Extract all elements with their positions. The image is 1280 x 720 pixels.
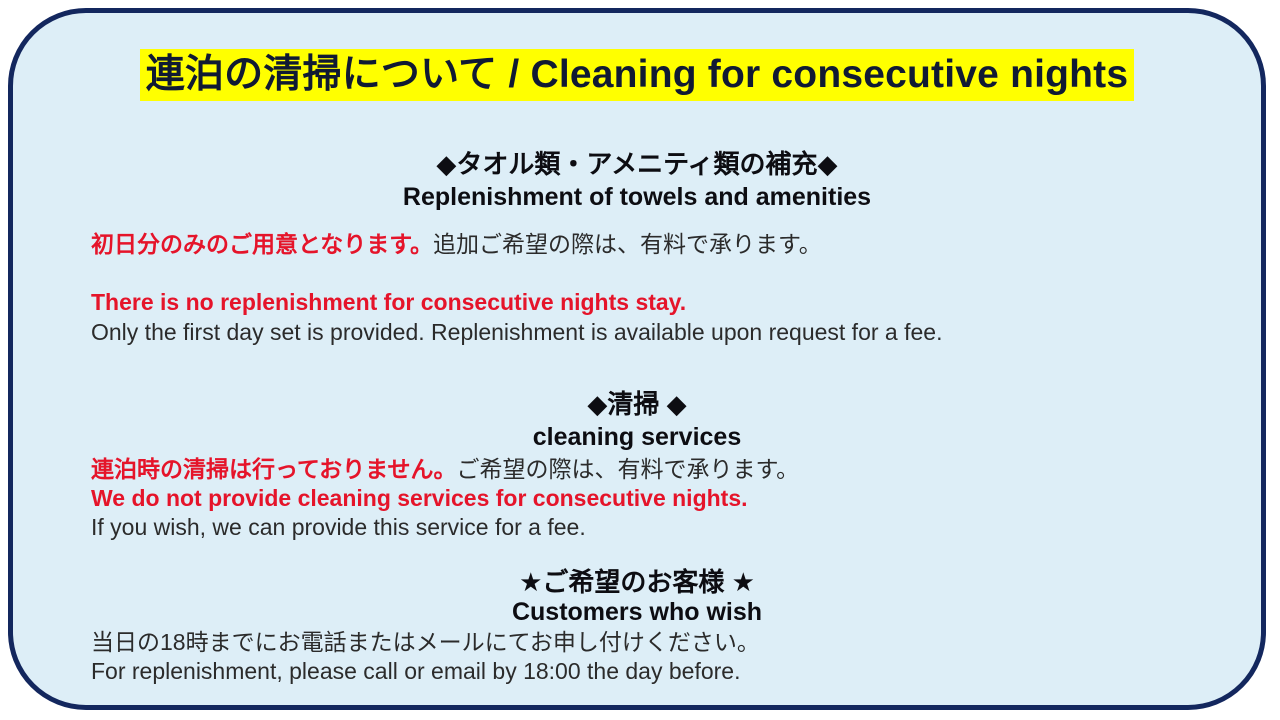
section-3-heading-jp: ★ご希望のお客様 ★	[13, 567, 1261, 597]
section-3-line-1: 当日の18時までにお電話またはメールにてお申し付けください。	[91, 627, 760, 657]
section-1-line-1-red: 初日分のみのご用意となります。	[91, 231, 433, 257]
section-1-line-1: 初日分のみのご用意となります。追加ご希望の際は、有料で承ります。	[91, 229, 822, 259]
section-2-line-2: We do not provide cleaning services for …	[91, 483, 748, 513]
section-2-heading-jp: ◆清掃 ◆	[13, 389, 1261, 419]
section-2-line-1-red: 連泊時の清掃は行っておりません。	[91, 456, 456, 482]
section-2-line-1-black: ご希望の際は、有料で承ります。	[456, 456, 799, 482]
page-title-highlighted-text: 連泊の清掃について / Cleaning for consecutive nig…	[140, 49, 1135, 101]
section-2-line-3: If you wish, we can provide this service…	[91, 512, 586, 542]
section-1-line-3: Only the first day set is provided. Repl…	[91, 317, 942, 347]
section-2-heading-en: cleaning services	[13, 422, 1261, 452]
section-1-heading-en: Replenishment of towels and amenities	[13, 182, 1261, 212]
section-3-line-2: For replenishment, please call or email …	[91, 656, 740, 686]
notice-card-inner: 連泊の清掃について / Cleaning for consecutive nig…	[13, 13, 1261, 705]
section-1-line-1-black: 追加ご希望の際は、有料で承ります。	[433, 231, 822, 257]
section-1-line-2: There is no replenishment for consecutiv…	[91, 287, 686, 317]
page-title: 連泊の清掃について / Cleaning for consecutive nig…	[13, 49, 1261, 101]
notice-card: 連泊の清掃について / Cleaning for consecutive nig…	[8, 8, 1266, 710]
section-2-line-1: 連泊時の清掃は行っておりません。ご希望の際は、有料で承ります。	[91, 454, 799, 484]
section-3-heading-en: Customers who wish	[13, 597, 1261, 627]
section-1-heading-jp: ◆タオル類・アメニティ類の補充◆	[13, 149, 1261, 179]
